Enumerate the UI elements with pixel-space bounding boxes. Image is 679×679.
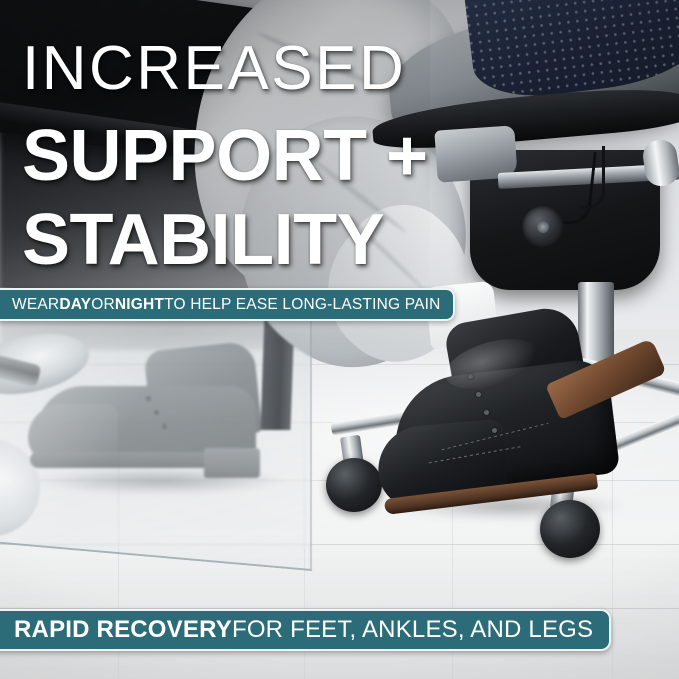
bottom-banner-rest: FOR FEET, ANKLES, AND LEGS (232, 616, 593, 644)
marketing-copy-overlay: INCREASED SUPPORT + STABILITY WEAR DAY O… (0, 0, 679, 679)
headline-line-3: STABILITY (22, 204, 384, 276)
product-marketing-image: INCREASED SUPPORT + STABILITY WEAR DAY O… (0, 0, 679, 679)
subtitle-bold-day: DAY (59, 296, 91, 314)
subtitle-part-2: OR (91, 296, 115, 314)
subtitle-banner: WEAR DAY OR NIGHT TO HELP EASE LONG-LAST… (0, 288, 455, 321)
subtitle-part-1: WEAR (12, 296, 59, 314)
bottom-banner-bold: RAPID RECOVERY (14, 616, 232, 644)
bottom-banner: RAPID RECOVERY FOR FEET, ANKLES, AND LEG… (0, 609, 611, 651)
headline-line-2: SUPPORT + (22, 120, 428, 192)
subtitle-bold-night: NIGHT (115, 296, 164, 314)
subtitle-part-3: TO HELP EASE LONG-LASTING PAIN (164, 296, 440, 314)
headline-line-1: INCREASED (22, 38, 406, 100)
